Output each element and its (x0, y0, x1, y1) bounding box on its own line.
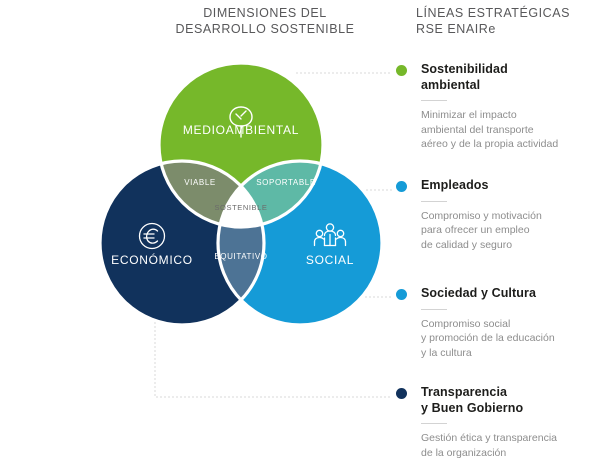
venn-label-sostenible: SOSTENIBLE (214, 203, 267, 212)
venn-label-soportable: SOPORTABLE (256, 178, 316, 187)
legend-desc-line2: de la organización (421, 447, 506, 459)
legend-title: Sostenibilidad ambiental (421, 62, 601, 93)
legend-description: Compromiso y motivación para ofrecer un … (421, 209, 601, 253)
venn-label-equitativo: EQUITATIVO (214, 252, 267, 261)
legend-dot-icon (396, 65, 407, 76)
legend-title-line2: y Buen Gobierno (421, 401, 523, 415)
legend-divider (421, 423, 447, 424)
legend-desc-line3: aéreo y de la propia actividad (421, 138, 558, 150)
venn-label-economico: ECONÓMICO (111, 252, 193, 267)
venn-label-social: SOCIAL (306, 253, 354, 267)
legend-desc-line2: para ofrecer un empleo (421, 224, 530, 236)
legend-title: Transparencia y Buen Gobierno (421, 385, 601, 416)
legend-item-empleados[interactable]: Empleados Compromiso y motivación para o… (396, 178, 601, 252)
legend-desc-line1: Compromiso y motivación (421, 210, 542, 222)
legend-title-line1: Transparencia (421, 385, 507, 399)
legend-description: Minimizar el impacto ambiental del trans… (421, 108, 601, 152)
legend-title: Sociedad y Cultura (421, 286, 601, 302)
legend-desc-line1: Compromiso social (421, 318, 510, 330)
legend-desc-line2: ambiental del transporte (421, 124, 534, 136)
legend-description: Compromiso social y promoción de la educ… (421, 317, 601, 361)
venn-label-medioambiental: MEDIOAMBIENTAL (183, 123, 299, 137)
legend-title-line1: Sostenibilidad (421, 62, 508, 76)
legend-description: Gestión ética y transparencia de la orga… (421, 431, 601, 460)
legend-title-line2: ambiental (421, 78, 480, 92)
legend-divider (421, 309, 447, 310)
legend-dot-icon (396, 289, 407, 300)
legend-item-transparencia-y-buen-gobierno[interactable]: Transparencia y Buen Gobierno Gestión ét… (396, 385, 601, 460)
venn-diagram: MEDIOAMBIENTAL ECONÓMICO SOCIAL VIABLE (96, 52, 386, 342)
legend-desc-line3: y la cultura (421, 347, 472, 359)
legend-title-line1: Empleados (421, 178, 489, 192)
infographic-root: DIMENSIONES DEL DESARROLLO SOSTENIBLE LÍ… (0, 0, 605, 475)
legend-title-line1: Sociedad y Cultura (421, 286, 536, 300)
venn-label-viable: VIABLE (184, 178, 216, 187)
legend-title: Empleados (421, 178, 601, 194)
legend-dot-icon (396, 388, 407, 399)
legend-desc-line3: de calidad y seguro (421, 239, 512, 251)
legend-desc-line1: Minimizar el impacto (421, 109, 517, 121)
legend-divider (421, 201, 447, 202)
legend-divider (421, 100, 447, 101)
legend-dot-icon (396, 181, 407, 192)
legend-item-sostenibilidad-ambiental[interactable]: Sostenibilidad ambiental Minimizar el im… (396, 62, 601, 152)
legend-item-sociedad-y-cultura[interactable]: Sociedad y Cultura Compromiso social y p… (396, 286, 601, 360)
legend-desc-line1: Gestión ética y transparencia (421, 432, 557, 444)
legend-desc-line2: y promoción de la educación (421, 332, 555, 344)
